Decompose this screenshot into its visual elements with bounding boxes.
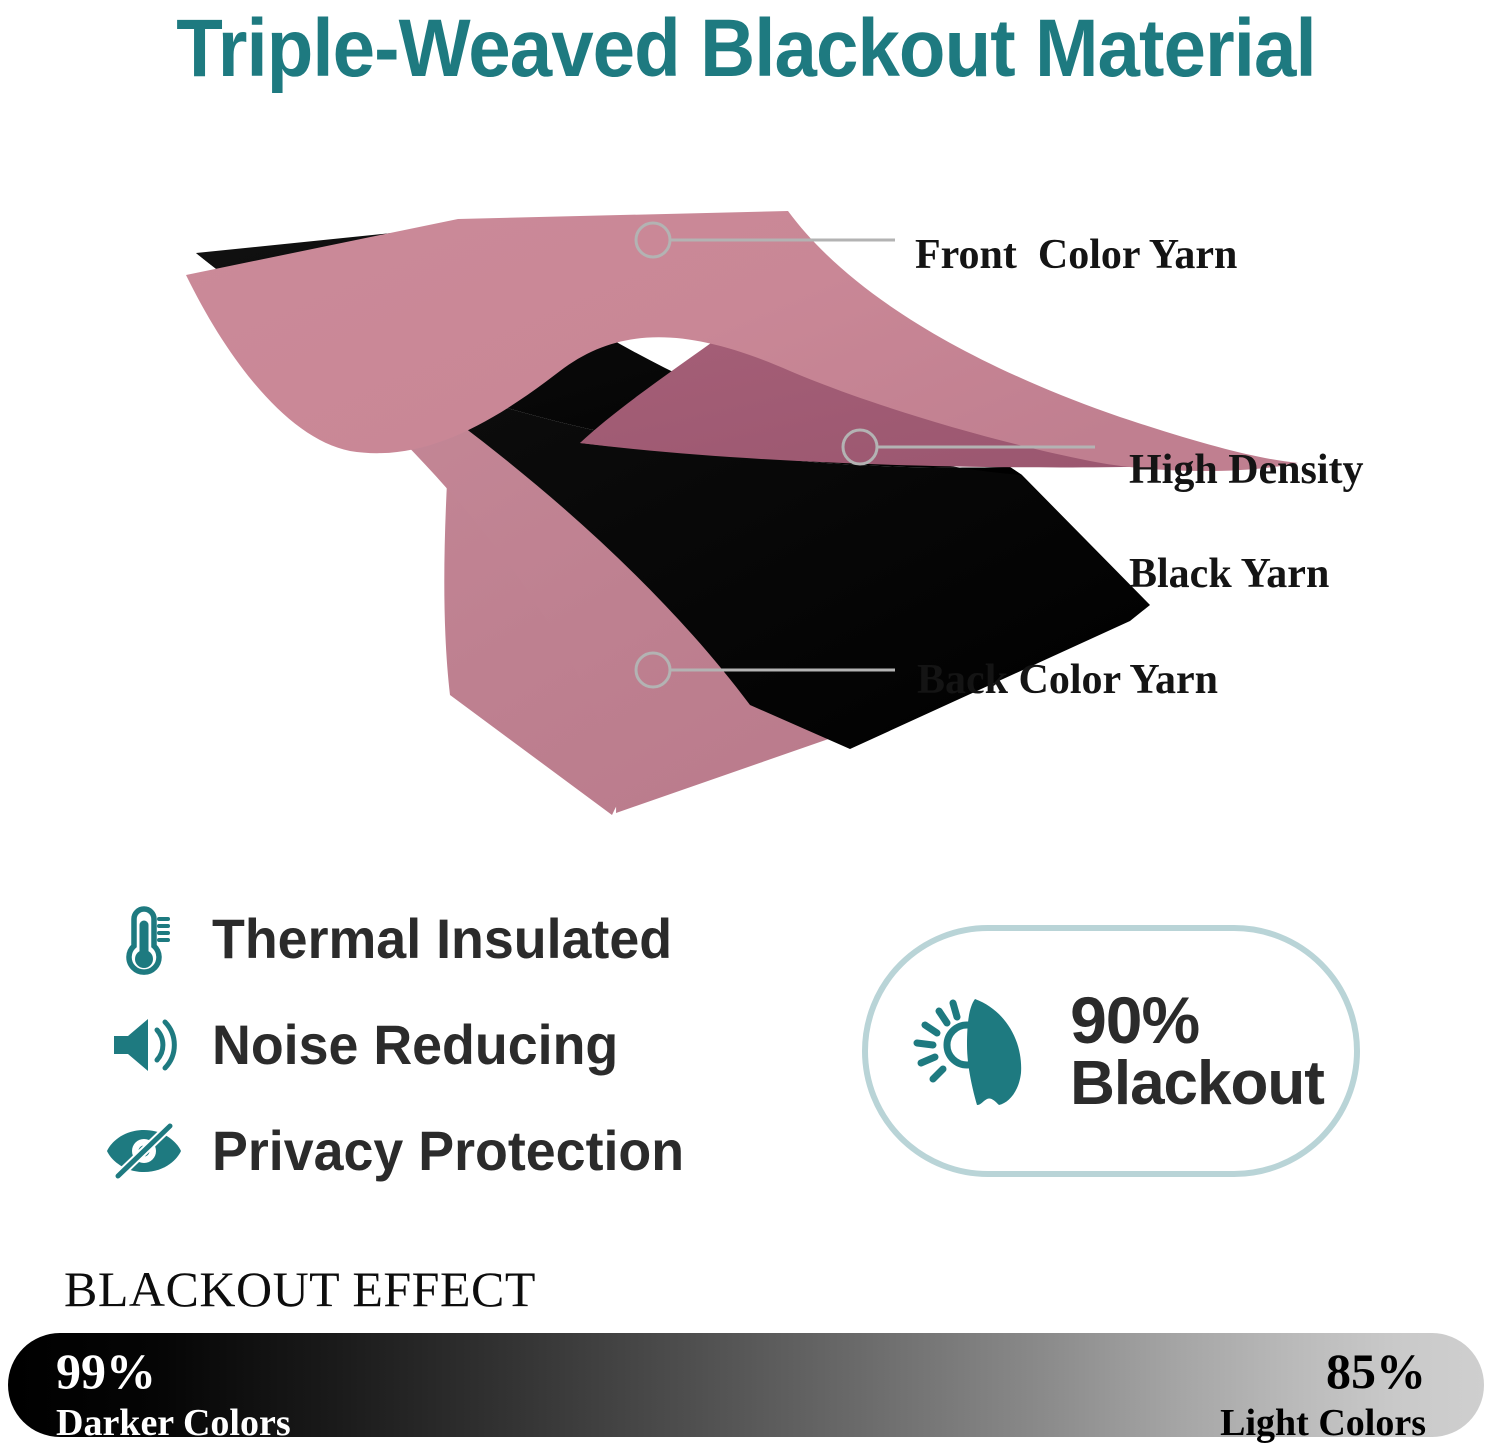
callout-label-line1: High Density (1129, 447, 1364, 493)
gradient-bar-left-stat: 99% Darker Colors (56, 1346, 291, 1442)
sun-blocked-curtain-icon (898, 976, 1048, 1126)
callout-label-back-color-yarn: Back Color Yarn (917, 654, 1218, 706)
eye-slash-icon (106, 1113, 182, 1189)
light-colors-caption: Light Colors (1220, 1404, 1426, 1442)
darker-colors-caption: Darker Colors (56, 1404, 291, 1442)
page-title: Triple-Weaved Blackout Material (52, 2, 1440, 96)
feature-item-thermal-insulated: Thermal Insulated (106, 895, 806, 983)
speaker-sound-icon (106, 1007, 182, 1083)
light-colors-percent: 85% (1220, 1346, 1426, 1396)
feature-label-thermal-insulated: Thermal Insulated (212, 909, 672, 969)
gradient-bar-right-stat: 85% Light Colors (1220, 1346, 1426, 1442)
feature-label-noise-reducing: Noise Reducing (212, 1015, 618, 1075)
blackout-badge-text: 90% Blackout (1070, 987, 1324, 1115)
blackout-percentage-badge: 90% Blackout (862, 925, 1360, 1177)
feature-item-noise-reducing: Noise Reducing (106, 1001, 806, 1089)
blackout-effect-heading: BLACKOUT EFFECT (64, 1262, 536, 1316)
blackout-percent-value: 90% (1070, 987, 1324, 1053)
darker-colors-percent: 99% (56, 1346, 291, 1396)
callout-label-front-color-yarn: Front Color Yarn (915, 229, 1237, 281)
feature-list: Thermal Insulated Noise Reducing Privacy… (106, 895, 806, 1213)
feature-label-privacy-protection: Privacy Protection (212, 1121, 684, 1181)
callout-label-line2: Black Yarn (1129, 551, 1329, 597)
callout-label-high-density-black-yarn: High Density Black Yarn (1108, 392, 1364, 600)
blackout-percent-word: Blackout (1070, 1053, 1324, 1115)
thermometer-icon (106, 901, 182, 977)
feature-item-privacy-protection: Privacy Protection (106, 1107, 806, 1195)
